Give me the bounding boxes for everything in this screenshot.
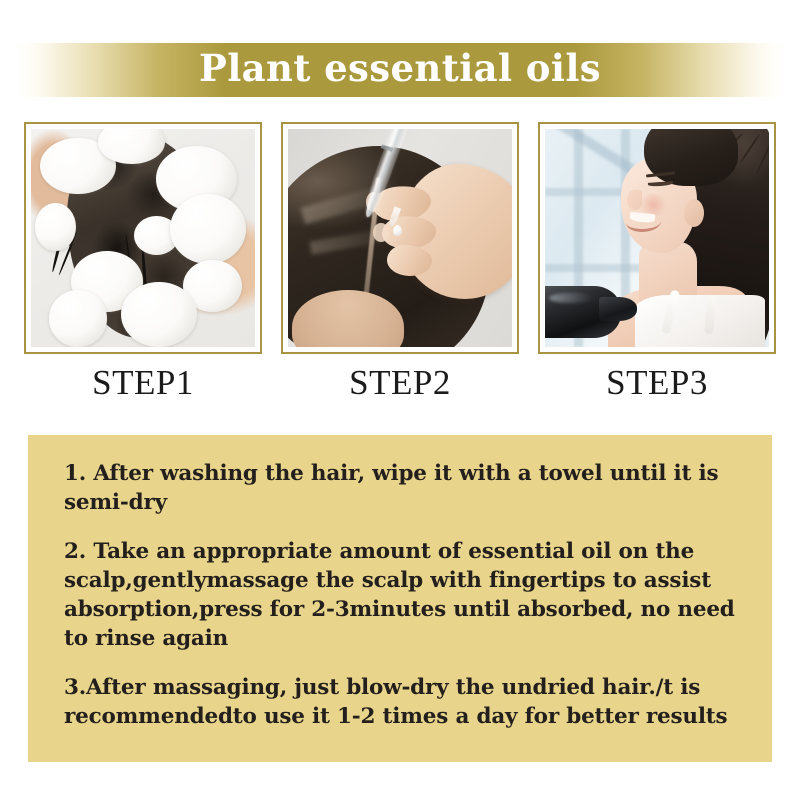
dropper-on-scalp-photo (288, 129, 512, 347)
instruction-step-1: 1. After washing the hair, wipe it with … (64, 459, 736, 517)
title-banner: Plant essential oils (0, 43, 800, 97)
photo3-tank-top (635, 295, 765, 347)
photo3-window-frame (545, 264, 648, 272)
instruction-step-3: 3.After massaging, just blow-dry the und… (64, 673, 736, 731)
photo1-foam-blob (49, 290, 107, 347)
instruction-step-2: 2. Take an appropriate amount of essenti… (64, 537, 736, 653)
step-photo-panel-2 (281, 122, 519, 354)
photo3-ear (684, 199, 704, 227)
instructions-panel: 1. After washing the hair, wipe it with … (28, 435, 772, 762)
photo3-hair-crown (644, 129, 738, 186)
photo2-oil-droplet (393, 225, 402, 236)
photo1-foam-blob (121, 282, 197, 347)
step-label-2: STEP2 (281, 362, 519, 406)
step-label-row: STEP1 STEP2 STEP3 (24, 362, 776, 406)
photo2-fingernail (373, 223, 389, 243)
shampoo-lather-photo (31, 129, 255, 347)
step-image-row (24, 122, 776, 354)
product-infographic: Plant essential oils (0, 0, 800, 800)
page-title: Plant essential oils (199, 50, 601, 90)
photo1-foam-blob (35, 203, 75, 251)
blow-dry-photo (545, 129, 769, 347)
step-label-1: STEP1 (24, 362, 262, 406)
photo3-dryer-nozzle (599, 297, 637, 321)
photo1-foam-blob (170, 194, 246, 264)
step-photo-panel-3 (538, 122, 776, 354)
step-label-3: STEP3 (538, 362, 776, 406)
step-photo-panel-1 (24, 122, 262, 354)
